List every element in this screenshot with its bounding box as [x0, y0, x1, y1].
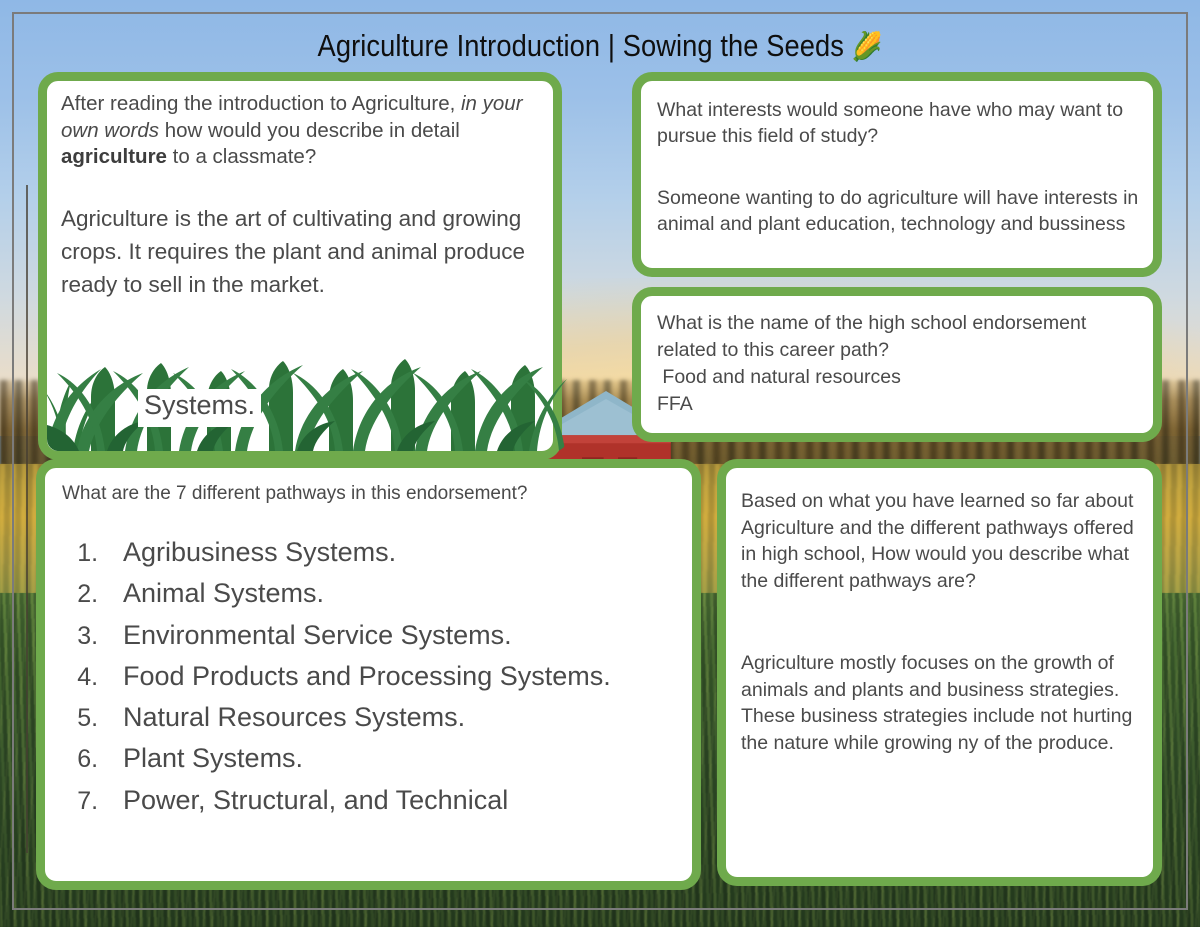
list-item: Power, Structural, and Technical — [105, 780, 684, 821]
corn-icon: 🌽 — [852, 31, 883, 62]
answer-describe-agriculture[interactable]: Agriculture is the art of cultivating an… — [61, 203, 543, 302]
question-interests: What interests would someone have who ma… — [657, 97, 1141, 149]
answer-endorsement-line2[interactable]: FFA — [657, 391, 1141, 418]
list-item: Agribusiness Systems. — [105, 532, 684, 573]
card-body: What are the 7 different pathways in thi… — [45, 468, 692, 881]
question-describe-pathways: Based on what you have learned so far ab… — [741, 488, 1141, 594]
list-item: Food Products and Processing Systems. — [105, 656, 684, 697]
q1-part2: how would you describe in detail — [159, 119, 466, 142]
utility-pole — [26, 185, 28, 852]
card-body: After reading the introduction to Agricu… — [47, 81, 553, 451]
card-body: What is the name of the high school endo… — [641, 296, 1153, 433]
list-item: Animal Systems. — [105, 573, 684, 614]
card-body: Based on what you have learned so far ab… — [726, 468, 1153, 877]
answer-describe-pathways[interactable]: Agriculture mostly focuses on the growth… — [741, 650, 1141, 756]
question-pathways: What are the 7 different pathways in thi… — [62, 482, 680, 507]
list-item: Environmental Service Systems. — [105, 615, 684, 656]
card-pathways[interactable]: What are the 7 different pathways in thi… — [36, 459, 701, 890]
page-title-text: Agriculture Introduction | Sowing the Se… — [318, 28, 844, 63]
pathways-list: Agribusiness Systems. Animal Systems. En… — [51, 532, 684, 821]
card-describe-pathways[interactable]: Based on what you have learned so far ab… — [717, 459, 1162, 886]
list-item: Natural Resources Systems. — [105, 697, 684, 738]
q1-bold: agriculture — [61, 145, 167, 168]
list-item: Plant Systems. — [105, 738, 684, 779]
card-interests[interactable]: What interests would someone have who ma… — [632, 72, 1162, 277]
card-describe-agriculture[interactable]: After reading the introduction to Agricu… — [38, 72, 562, 460]
card-endorsement-name[interactable]: What is the name of the high school endo… — [632, 287, 1162, 442]
question-describe-agriculture: After reading the introduction to Agricu… — [61, 91, 543, 171]
question-endorsement-name: What is the name of the high school endo… — [657, 310, 1141, 364]
q1-part3: to a classmate? — [167, 145, 316, 168]
slide-canvas: Agriculture Introduction | Sowing the Se… — [0, 0, 1200, 927]
q1-part1: After reading the introduction to Agricu… — [61, 92, 461, 115]
answer-endorsement-line1[interactable]: Food and natural resources — [657, 364, 1141, 391]
pathways-overflow-text: Systems. — [138, 389, 261, 427]
wheat-silhouette-icon — [47, 351, 567, 451]
card-body: What interests would someone have who ma… — [641, 81, 1153, 268]
answer-interests[interactable]: Someone wanting to do agriculture will h… — [657, 185, 1141, 237]
page-title: Agriculture Introduction | Sowing the Se… — [72, 28, 1128, 70]
